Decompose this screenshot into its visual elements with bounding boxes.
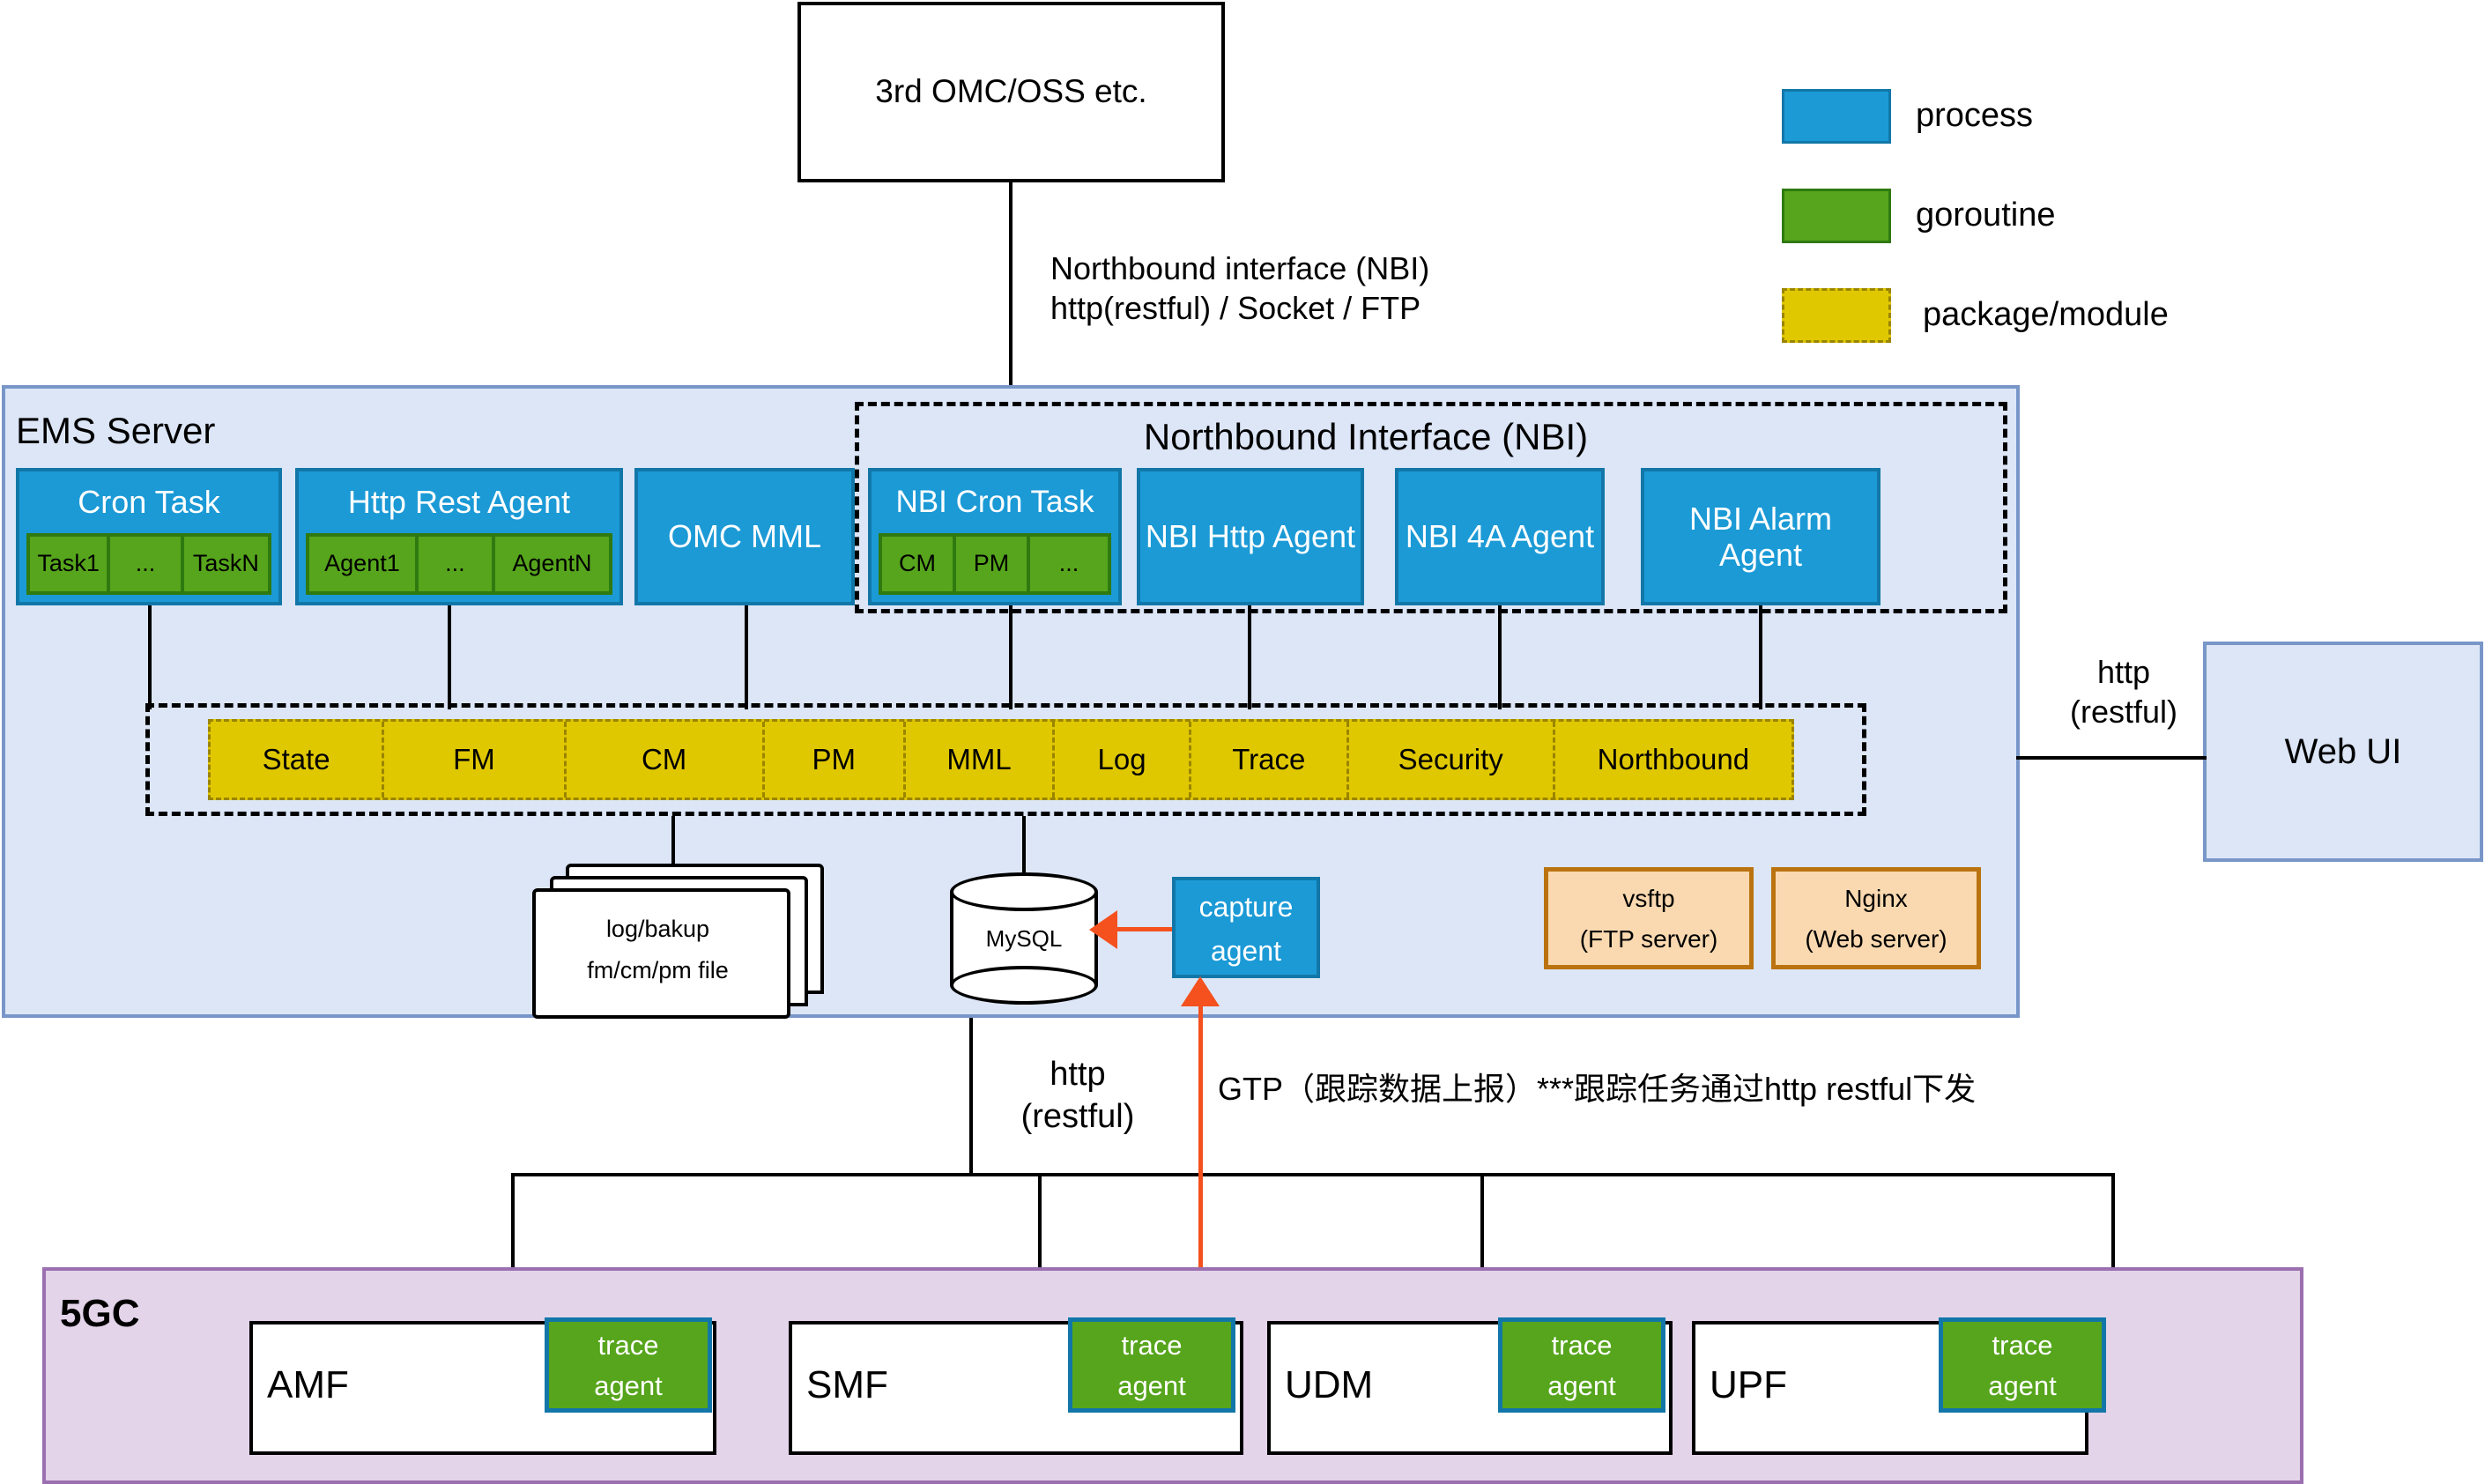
third-party-omc-oss-label: 3rd OMC/OSS etc. (875, 73, 1146, 111)
goroutine-nbi-ellipsis: ... (1030, 533, 1111, 595)
gtp-annotation-label: GTP（跟踪数据上报）***跟踪任务通过http restful下发 (1218, 1064, 1976, 1109)
legend-label-package-module: package/module (1923, 288, 2169, 343)
trace-agent-upf-line2: agent (1943, 1364, 2102, 1408)
server-nginx-line2: (Web server) (1776, 917, 1977, 961)
connector-cron-task (148, 605, 152, 709)
gtp-uplink-arrowhead (1181, 976, 1220, 1006)
web-ui-link-label-line2: (restful) (2036, 692, 2212, 731)
legend-swatch-process (1782, 89, 1891, 144)
goroutine-nbi-pm[interactable]: PM (956, 533, 1030, 595)
node-smf-label: SMF (806, 1363, 888, 1407)
trace-agent-udm[interactable]: trace agent (1498, 1317, 1665, 1413)
process-capture-agent-line1: capture (1176, 884, 1317, 930)
web-ui-link-label-line1: http (2036, 652, 2212, 692)
fivegc-title: 5GC (60, 1292, 139, 1336)
connector-http-rest-agent (448, 605, 451, 709)
process-http-rest-agent-label: Http Rest Agent (299, 477, 619, 528)
trace-agent-smf-line1: trace (1072, 1324, 1231, 1368)
file-store-shape: log/bakup fm/cm/pm file (529, 864, 820, 1005)
goroutine-agent1[interactable]: Agent1 (306, 533, 419, 595)
architecture-diagram: 3rd OMC/OSS etc. Northbound interface (N… (0, 0, 2485, 1484)
process-nbi-cron-task[interactable]: NBI Cron Task CM PM ... (868, 468, 1122, 605)
ems-server-title: EMS Server (16, 410, 215, 452)
connector-nbi-cron-task (1009, 605, 1013, 709)
trace-agent-amf-line1: trace (549, 1324, 708, 1368)
trace-agent-upf-line1: trace (1943, 1324, 2102, 1368)
server-nginx-line1: Nginx (1776, 877, 1977, 921)
module-trace[interactable]: Trace (1191, 722, 1349, 798)
module-bar: State FM CM PM MML Log Trace Security No… (208, 719, 1794, 800)
ems-southbound-drop (969, 1018, 973, 1176)
module-security[interactable]: Security (1349, 722, 1555, 798)
module-northbound[interactable]: Northbound (1555, 722, 1791, 798)
process-nbi-alarm-agent-label: NBI Alarm Agent (1644, 501, 1877, 574)
database-mysql[interactable]: MySQL (950, 872, 1098, 1005)
nbi-link-label-line1: Northbound interface (NBI) (1050, 249, 1614, 288)
process-nbi-http-agent-label: NBI Http Agent (1146, 518, 1355, 554)
process-nbi-4a-agent-label: NBI 4A Agent (1406, 518, 1594, 554)
legend-swatch-goroutine (1782, 189, 1891, 243)
southbound-bus (511, 1173, 2115, 1176)
server-vsftp-line2: (FTP server) (1548, 917, 1749, 961)
web-ui-box[interactable]: Web UI (2203, 642, 2483, 862)
third-party-omc-oss-box: 3rd OMC/OSS etc. (797, 2, 1225, 182)
database-label: MySQL (950, 872, 1098, 1005)
process-cron-task-label: Cron Task (19, 477, 278, 528)
legend-swatch-package-module (1782, 288, 1891, 343)
connector-module-to-database (1022, 816, 1026, 872)
southbound-http-label-line1: http (985, 1054, 1170, 1096)
process-nbi-alarm-agent[interactable]: NBI Alarm Agent (1641, 468, 1880, 605)
gtp-uplink-line (1198, 1000, 1203, 1300)
capture-to-db-line (1112, 927, 1172, 931)
process-capture-agent[interactable]: capture agent (1172, 877, 1320, 978)
server-vsftp[interactable]: vsftp (FTP server) (1544, 867, 1754, 969)
web-ui-link-label: http (restful) (2036, 652, 2212, 731)
connector-omc-mml (745, 605, 748, 709)
process-nbi-cron-task-label: NBI Cron Task (872, 477, 1118, 528)
module-pm[interactable]: PM (765, 722, 906, 798)
process-nbi-4a-agent[interactable]: NBI 4A Agent (1395, 468, 1605, 605)
process-capture-agent-line2: agent (1176, 928, 1317, 974)
server-nginx[interactable]: Nginx (Web server) (1771, 867, 1981, 969)
nbi-group-title: Northbound Interface (NBI) (881, 412, 1851, 462)
module-mml[interactable]: MML (906, 722, 1055, 798)
module-state[interactable]: State (211, 722, 384, 798)
node-amf-label: AMF (267, 1363, 349, 1407)
module-cm[interactable]: CM (567, 722, 765, 798)
process-omc-mml[interactable]: OMC MML (634, 468, 855, 605)
process-http-rest-agent[interactable]: Http Rest Agent Agent1 ... AgentN (295, 468, 623, 605)
web-ui-label: Web UI (2285, 731, 2402, 772)
nbi-link-label-line2: http(restful) / Socket / FTP (1050, 288, 1614, 328)
legend-label-process: process (1916, 89, 2033, 144)
module-log[interactable]: Log (1055, 722, 1191, 798)
nbi-link-label: Northbound interface (NBI) http(restful)… (1050, 249, 1614, 328)
file-store-line1: log/bakup (606, 916, 709, 943)
legend-label-goroutine: goroutine (1916, 189, 2055, 243)
goroutine-taskn[interactable]: TaskN (184, 533, 271, 595)
module-fm[interactable]: FM (384, 722, 566, 798)
trace-agent-udm-line1: trace (1502, 1324, 1661, 1368)
trace-agent-smf-line2: agent (1072, 1364, 1231, 1408)
southbound-http-label-line2: (restful) (985, 1096, 1170, 1139)
node-upf-label: UPF (1710, 1363, 1787, 1407)
trace-agent-smf[interactable]: trace agent (1068, 1317, 1235, 1413)
trace-agent-udm-line2: agent (1502, 1364, 1661, 1408)
connector-nbi-http-agent (1248, 605, 1251, 709)
trace-agent-amf-line2: agent (549, 1364, 708, 1408)
process-cron-task[interactable]: Cron Task Task1 ... TaskN (16, 468, 282, 605)
process-omc-mml-label: OMC MML (668, 518, 821, 554)
trace-agent-amf[interactable]: trace agent (545, 1317, 712, 1413)
process-nbi-http-agent[interactable]: NBI Http Agent (1137, 468, 1364, 605)
connector-nbi-4a-agent (1498, 605, 1502, 709)
southbound-http-label: http (restful) (985, 1054, 1170, 1138)
file-store-line2: fm/cm/pm file (587, 957, 729, 984)
ems-to-webui-line (2016, 756, 2207, 760)
nbi-connector-line (1009, 182, 1013, 394)
goroutine-task1[interactable]: Task1 (26, 533, 110, 595)
trace-agent-upf[interactable]: trace agent (1939, 1317, 2106, 1413)
server-vsftp-line1: vsftp (1548, 877, 1749, 921)
goroutine-agentn[interactable]: AgentN (495, 533, 612, 595)
connector-nbi-alarm-agent (1759, 605, 1762, 709)
goroutine-nbi-cm[interactable]: CM (879, 533, 956, 595)
goroutine-task-ellipsis: ... (110, 533, 183, 595)
node-udm-label: UDM (1285, 1363, 1373, 1407)
goroutine-agent-ellipsis: ... (419, 533, 495, 595)
legend: process goroutine package/module (1782, 84, 2399, 348)
